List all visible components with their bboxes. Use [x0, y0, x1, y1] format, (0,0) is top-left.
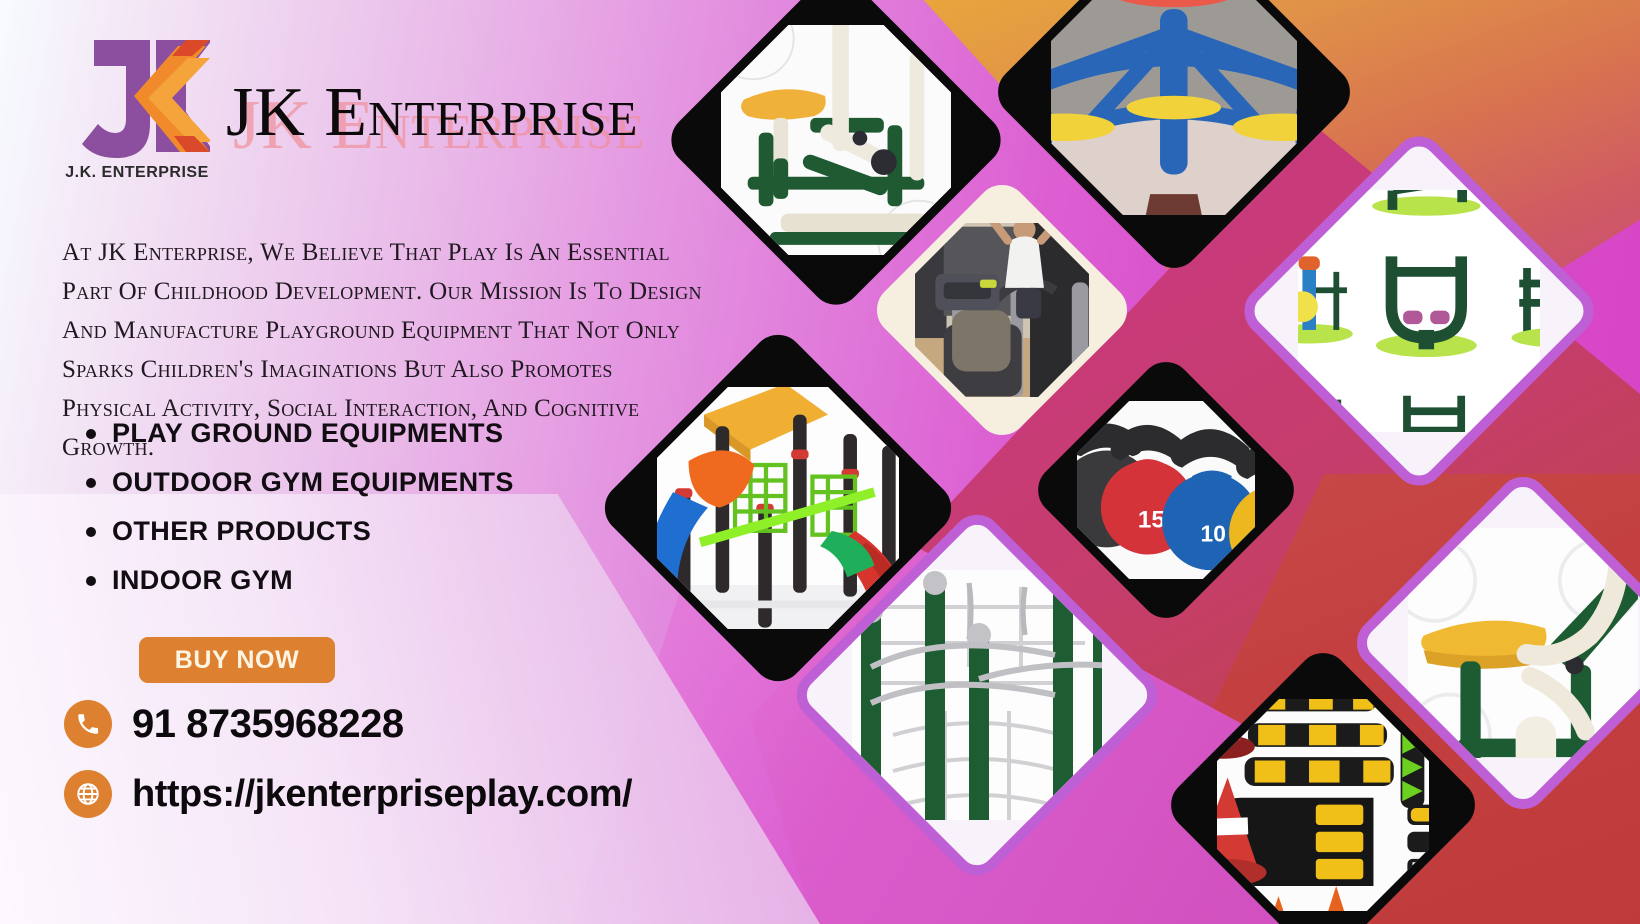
- logo-wordmark: J.K. ENTERPRISE: [62, 165, 212, 181]
- website-url: https://jkenterpriseplay.com/: [132, 775, 632, 813]
- photo-outdoor-gym-cycle: [721, 25, 951, 255]
- phone-icon: [64, 700, 112, 748]
- page-title-text: JK Enterprise: [226, 78, 638, 148]
- list-item[interactable]: OUTDOOR GYM EQUIPMENTS: [112, 469, 514, 496]
- contact-phone-row[interactable]: 91 8735968228: [64, 700, 632, 748]
- category-list: PLAY GROUND EQUIPMENTS OUTDOOR GYM EQUIP…: [78, 420, 514, 616]
- buy-now-button[interactable]: BUY NOW: [139, 637, 335, 683]
- content-column: J.K. ENTERPRISE JK Enterprise JK Enterpr…: [0, 0, 720, 924]
- phone-number: 91 8735968228: [132, 704, 404, 744]
- photo-kettlebells: 15 10: [1077, 401, 1255, 579]
- photo-merry-go-round: [1051, 0, 1297, 215]
- list-item[interactable]: OTHER PRODUCTS: [112, 518, 514, 545]
- list-item[interactable]: PLAY GROUND EQUIPMENTS: [112, 420, 514, 447]
- globe-icon: [64, 770, 112, 818]
- jk-monogram-logo: J.K. ENTERPRISE: [60, 22, 210, 187]
- brand-row: J.K. ENTERPRISE JK Enterprise JK Enterpr…: [60, 22, 638, 187]
- photo-indoor-gym: [915, 223, 1089, 397]
- promo-banner: 15 10: [0, 0, 1640, 924]
- kettlebell-label-10: 10: [1200, 520, 1225, 546]
- photo-outdoor-gym-set: [1298, 190, 1540, 432]
- photo-traffic-safety: [1217, 699, 1429, 911]
- photo-chest-press: [1408, 528, 1638, 758]
- contact-website-row[interactable]: https://jkenterpriseplay.com/: [64, 770, 632, 818]
- page-title: JK Enterprise JK Enterprise: [226, 78, 638, 148]
- photo-monkey-bars: [852, 570, 1102, 820]
- kettlebell-label-15: 15: [1138, 506, 1165, 533]
- contact-block: 91 8735968228 https://jkenterpriseplay.c…: [64, 700, 632, 840]
- list-item[interactable]: INDOOR GYM: [112, 567, 514, 594]
